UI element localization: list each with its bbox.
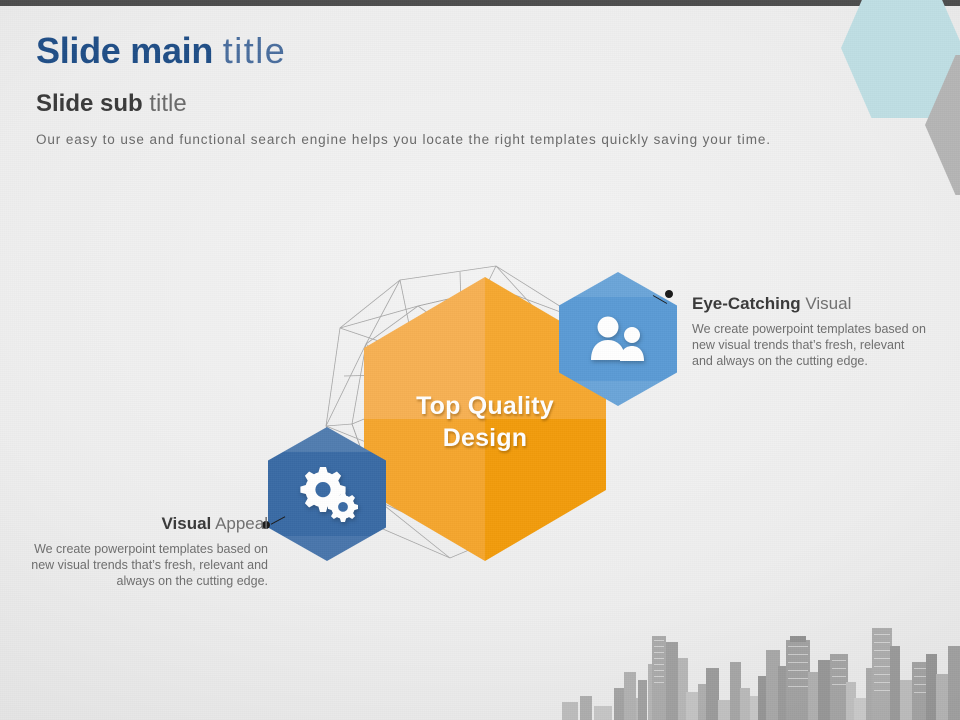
callout-title-strong: Eye-Catching bbox=[692, 294, 801, 313]
callout-title-light: Visual bbox=[805, 294, 851, 313]
callout-visual-appeal: Visual Appeal We create powerpoint templ… bbox=[20, 512, 268, 589]
callout-body: We create powerpoint templates based on … bbox=[20, 541, 268, 589]
slide-sub-title: Slide sub title bbox=[36, 88, 187, 120]
slide-main-title: Slide main title bbox=[36, 28, 286, 74]
slide-lead-text: Our easy to use and functional search en… bbox=[36, 130, 916, 150]
main-title-light: title bbox=[223, 30, 287, 71]
top-accent-bar bbox=[0, 0, 960, 6]
callout-title-light: Appeal bbox=[215, 514, 268, 533]
callout-eye-catching: Eye-Catching Visual We create powerpoint… bbox=[692, 292, 928, 369]
main-title-strong: Slide main bbox=[36, 30, 213, 71]
center-label-line1: Top Quality bbox=[416, 390, 554, 422]
sub-title-strong: Slide sub bbox=[36, 90, 143, 117]
cityscape-graphic bbox=[560, 610, 960, 720]
slide-canvas: Slide main title Slide sub title Our eas… bbox=[0, 0, 960, 720]
callout-title: Eye-Catching Visual bbox=[692, 292, 928, 316]
center-label-line2: Design bbox=[443, 422, 528, 454]
callout-body: We create powerpoint templates based on … bbox=[692, 321, 928, 369]
callout-title-strong: Visual bbox=[161, 514, 211, 533]
connector-dot bbox=[665, 290, 673, 298]
callout-title: Visual Appeal bbox=[20, 512, 268, 536]
sub-title-light: title bbox=[149, 90, 186, 117]
